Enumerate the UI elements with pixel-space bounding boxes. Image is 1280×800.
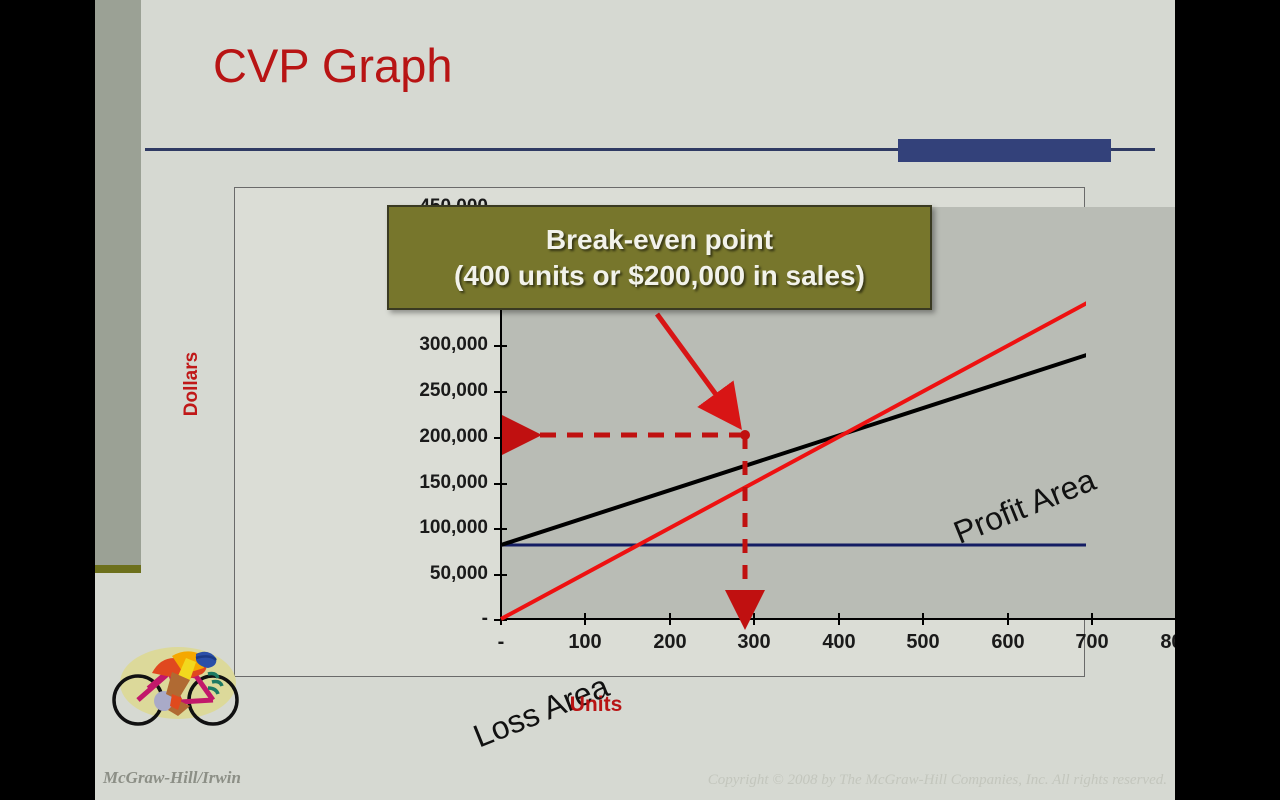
slide-canvas: CVP Graph 450,000 400,000 350,000 300,00… (95, 0, 1175, 800)
header-accent-block (898, 139, 1111, 162)
y-tick-label: 150,000 (240, 472, 488, 494)
y-tick (494, 391, 507, 393)
x-tick-label: 600 (968, 631, 1048, 654)
x-tick-label: - (461, 631, 541, 654)
x-tick-label: 300 (714, 631, 794, 654)
page-title: CVP Graph (213, 38, 452, 93)
left-decorative-band (95, 0, 141, 570)
cyclist-icon (112, 628, 242, 733)
y-tick-label: 300,000 (240, 334, 488, 356)
x-tick (1091, 613, 1093, 625)
y-tick-label: 250,000 (240, 380, 488, 402)
x-tick (1007, 613, 1009, 625)
y-tick-label: 200,000 (240, 426, 488, 448)
x-tick-label: 400 (799, 631, 879, 654)
x-tick (838, 613, 840, 625)
y-tick-label: - (240, 608, 488, 630)
x-tick-label: 500 (883, 631, 963, 654)
y-tick (494, 345, 507, 347)
x-tick-label: 200 (630, 631, 710, 654)
callout-line-1: Break-even point (546, 222, 773, 258)
x-tick (584, 613, 586, 625)
breakeven-callout: Break-even point (400 units or $200,000 … (387, 205, 932, 310)
x-tick (922, 613, 924, 625)
footer-imprint: McGraw-Hill/Irwin (103, 768, 241, 788)
y-tick (494, 528, 507, 530)
y-tick-label: 100,000 (240, 517, 488, 539)
left-band-olive-cap (95, 565, 141, 573)
x-tick-label: 800 (1137, 631, 1175, 654)
y-tick (494, 574, 507, 576)
x-tick-label: 100 (545, 631, 625, 654)
x-tick (753, 613, 755, 625)
cvp-chart: 450,000 400,000 350,000 300,000 250,000 … (234, 187, 1085, 677)
footer-copyright: Copyright © 2008 by The McGraw-Hill Comp… (708, 772, 1167, 789)
y-tick-label: 50,000 (240, 563, 488, 585)
y-axis-title: Dollars (181, 352, 203, 416)
x-tick (500, 613, 502, 625)
x-axis-title: Units (536, 693, 656, 717)
callout-line-2: (400 units or $200,000 in sales) (454, 258, 865, 294)
y-tick (494, 437, 507, 439)
x-tick-label: 700 (1052, 631, 1132, 654)
x-tick (669, 613, 671, 625)
y-tick (494, 483, 507, 485)
